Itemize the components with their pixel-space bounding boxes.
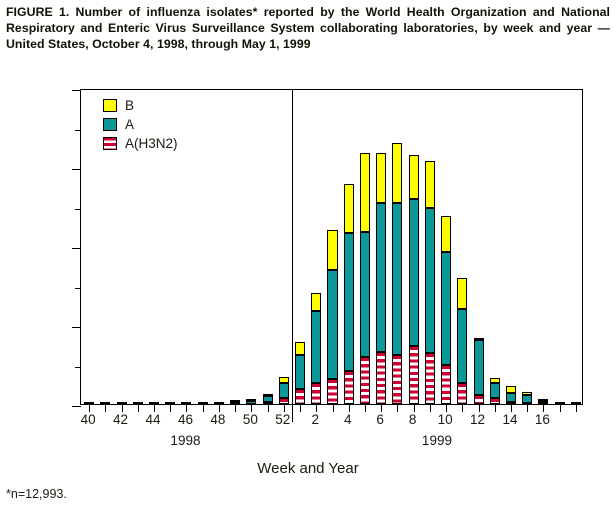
bar-week-50: [246, 401, 256, 404]
bar-week-17: [555, 402, 565, 404]
bar-segment-b: [409, 155, 419, 198]
x-axis-tick: [446, 404, 447, 412]
bar-segment-b: [360, 153, 370, 232]
x-axis-tick: [316, 404, 317, 412]
bar-segment-a: [84, 402, 94, 404]
bar-segment-a: [230, 402, 240, 404]
bar-segment-b: [425, 161, 435, 208]
bar-week-16: [538, 400, 548, 404]
bar-week-6: [376, 153, 386, 404]
bar-segment-a: [441, 252, 451, 364]
bar-segment-a: [100, 402, 110, 404]
y-axis-tick-major: [72, 406, 81, 407]
bar-week-15: [522, 392, 532, 404]
bar-week-10: [441, 216, 451, 404]
bar-week-18: [571, 402, 581, 404]
bar-week-46: [181, 402, 191, 404]
bar-week-4: [344, 184, 354, 404]
bar-segment-a-h3n2: [279, 398, 289, 404]
influenza-isolates-chart: Number Week and Year B A A(H3N2) 0500100…: [0, 0, 616, 514]
bar-segment-a-h3n2: [506, 402, 516, 404]
bar-segment-a-h3n2: [327, 379, 337, 404]
bar-segment-b: [327, 230, 337, 270]
bar-segment-b: [263, 394, 273, 396]
y-axis-tick-major: [72, 248, 81, 249]
bar-segment-a-h3n2: [392, 355, 402, 404]
bar-segment-b: [311, 293, 321, 310]
x-axis-tick: [235, 404, 236, 412]
bar-week-11: [457, 278, 467, 404]
bar-segment-a: [474, 340, 484, 395]
bar-week-44: [149, 402, 159, 404]
bar-segment-b: [457, 278, 467, 309]
x-axis-tick: [186, 404, 187, 412]
x-axis-tick: [462, 404, 463, 412]
bar-segment-a-h3n2: [441, 365, 451, 405]
x-axis-tick: [511, 404, 512, 412]
legend-label-b: B: [125, 99, 134, 113]
x-axis-tick: [430, 404, 431, 412]
legend-item-a: A: [103, 115, 213, 134]
bar-segment-a: [409, 199, 419, 346]
bar-week-12: [474, 339, 484, 404]
bar-segment-a: [133, 402, 143, 404]
x-axis-label: 14: [502, 412, 517, 427]
bar-segment-a: [198, 402, 208, 404]
x-axis-label: 8: [409, 412, 417, 427]
year-divider: [292, 90, 293, 422]
x-axis-tick: [397, 404, 398, 412]
x-axis-tick: [349, 404, 350, 412]
bar-week-5: [360, 153, 370, 404]
bar-segment-b: [230, 400, 240, 402]
x-axis-label: 48: [210, 412, 225, 427]
bar-segment-a-h3n2: [490, 398, 500, 404]
bar-segment-a: [263, 396, 273, 402]
legend-swatch-a-h3n2-icon: [103, 137, 117, 150]
x-axis-tick: [495, 404, 496, 412]
bar-segment-a: [522, 395, 532, 403]
bar-segment-b: [246, 399, 256, 401]
bar-segment-b: [506, 386, 516, 393]
bar-week-13: [490, 378, 500, 404]
bar-week-47: [198, 402, 208, 404]
y-axis-tick-major: [72, 90, 81, 91]
bar-segment-a: [425, 208, 435, 353]
x-axis-label: 10: [438, 412, 453, 427]
x-axis-tick: [576, 404, 577, 412]
legend-swatch-a-icon: [103, 118, 117, 131]
bar-segment-a: [311, 311, 321, 384]
bar-segment-a: [490, 383, 500, 399]
x-axis-label: 40: [81, 412, 96, 427]
bar-segment-b: [490, 378, 500, 383]
x-axis-label: 6: [376, 412, 384, 427]
x-axis-tick: [479, 404, 480, 412]
x-axis-label: 16: [535, 412, 550, 427]
x-axis-tick: [560, 404, 561, 412]
bar-week-48: [214, 402, 224, 404]
x-axis-label: 42: [113, 412, 128, 427]
y-axis-tick-major: [72, 327, 81, 328]
x-axis-tick: [105, 404, 106, 412]
legend-item-a-h3n2: A(H3N2): [103, 134, 213, 153]
x-axis-label: 46: [178, 412, 193, 427]
bar-segment-a-h3n2: [376, 352, 386, 404]
bar-segment-b: [344, 184, 354, 233]
x-axis-tick: [219, 404, 220, 412]
x-axis-label: 44: [146, 412, 161, 427]
bar-week-52: [279, 377, 289, 404]
x-axis-label: 4: [344, 412, 352, 427]
bar-segment-a: [246, 401, 256, 404]
bar-week-51: [263, 395, 273, 404]
bar-segment-b: [392, 143, 402, 203]
bar-segment-b: [474, 338, 484, 340]
x-axis-tick: [154, 404, 155, 412]
chart-legend: B A A(H3N2): [103, 96, 213, 153]
bar-segment-a-h3n2: [474, 395, 484, 404]
bar-segment-a-h3n2: [295, 389, 305, 404]
x-axis-tick: [527, 404, 528, 412]
bar-week-9: [425, 161, 435, 404]
x-axis-tick: [251, 404, 252, 412]
bar-segment-b: [376, 153, 386, 204]
x-axis-label: 50: [243, 412, 258, 427]
bar-segment-a-h3n2: [457, 383, 467, 404]
bar-week-41: [100, 402, 110, 404]
bar-segment-a: [181, 402, 191, 404]
x-axis-tick: [138, 404, 139, 412]
x-axis-tick: [122, 404, 123, 412]
bar-week-40: [84, 402, 94, 404]
footnote: *n=12,993.: [6, 487, 67, 501]
bar-week-7: [392, 143, 402, 404]
bar-week-14: [506, 386, 516, 404]
bar-week-1: [295, 342, 305, 404]
x-axis-tick: [333, 404, 334, 412]
y-axis-tick-major: [72, 169, 81, 170]
bar-segment-a: [149, 402, 159, 404]
bar-segment-a: [165, 402, 175, 404]
y-axis-tick-minor: [75, 367, 81, 368]
bar-segment-b: [295, 342, 305, 355]
x-axis-label: 52: [275, 412, 290, 427]
x-axis-year-label: 1999: [422, 433, 452, 448]
bar-segment-a: [571, 402, 581, 404]
x-axis-tick: [414, 404, 415, 412]
bar-week-2: [311, 293, 321, 404]
x-axis-tick: [365, 404, 366, 412]
x-axis-tick: [170, 404, 171, 412]
bar-segment-a: [538, 401, 548, 404]
bar-segment-a: [392, 203, 402, 355]
x-axis-tick: [284, 404, 285, 412]
bar-segment-a-h3n2: [360, 357, 370, 404]
x-axis-year-label: 1998: [170, 433, 200, 448]
bar-week-42: [117, 402, 127, 404]
bar-week-43: [133, 402, 143, 404]
bar-segment-a: [457, 309, 467, 383]
bar-segment-a: [279, 383, 289, 398]
bar-segment-a: [344, 233, 354, 370]
x-axis-label: 2: [312, 412, 320, 427]
bar-segment-b: [279, 377, 289, 383]
bar-week-3: [327, 230, 337, 404]
legend-label-a-h3n2: A(H3N2): [125, 137, 178, 151]
bar-segment-a: [555, 402, 565, 404]
bar-segment-b: [441, 216, 451, 252]
bar-segment-b: [538, 399, 548, 401]
y-axis-tick-minor: [75, 209, 81, 210]
x-axis-tick: [268, 404, 269, 412]
bar-segment-a: [376, 203, 386, 352]
x-axis-tick: [381, 404, 382, 412]
bar-segment-a: [295, 355, 305, 389]
bar-segment-a-h3n2: [311, 383, 321, 404]
bar-week-45: [165, 402, 175, 404]
legend-swatch-b-icon: [103, 99, 117, 112]
bar-segment-b: [522, 392, 532, 395]
x-axis-tick: [89, 404, 90, 412]
bar-segment-a: [327, 270, 337, 379]
y-axis-tick-minor: [75, 130, 81, 131]
bar-week-8: [409, 155, 419, 404]
x-axis-label: 12: [470, 412, 485, 427]
legend-item-b: B: [103, 96, 213, 115]
bar-segment-a: [360, 232, 370, 357]
x-axis-title: Week and Year: [0, 460, 616, 477]
bar-week-49: [230, 401, 240, 404]
bar-segment-a: [117, 402, 127, 404]
bar-segment-a: [506, 393, 516, 402]
x-axis-tick: [203, 404, 204, 412]
bar-segment-a-h3n2: [409, 346, 419, 404]
bar-segment-a-h3n2: [425, 353, 435, 404]
x-axis-tick: [543, 404, 544, 412]
bar-segment-a-h3n2: [344, 371, 354, 404]
legend-label-a: A: [125, 118, 134, 132]
bar-segment-a: [214, 402, 224, 404]
x-axis-tick: [300, 404, 301, 412]
y-axis-tick-minor: [75, 288, 81, 289]
